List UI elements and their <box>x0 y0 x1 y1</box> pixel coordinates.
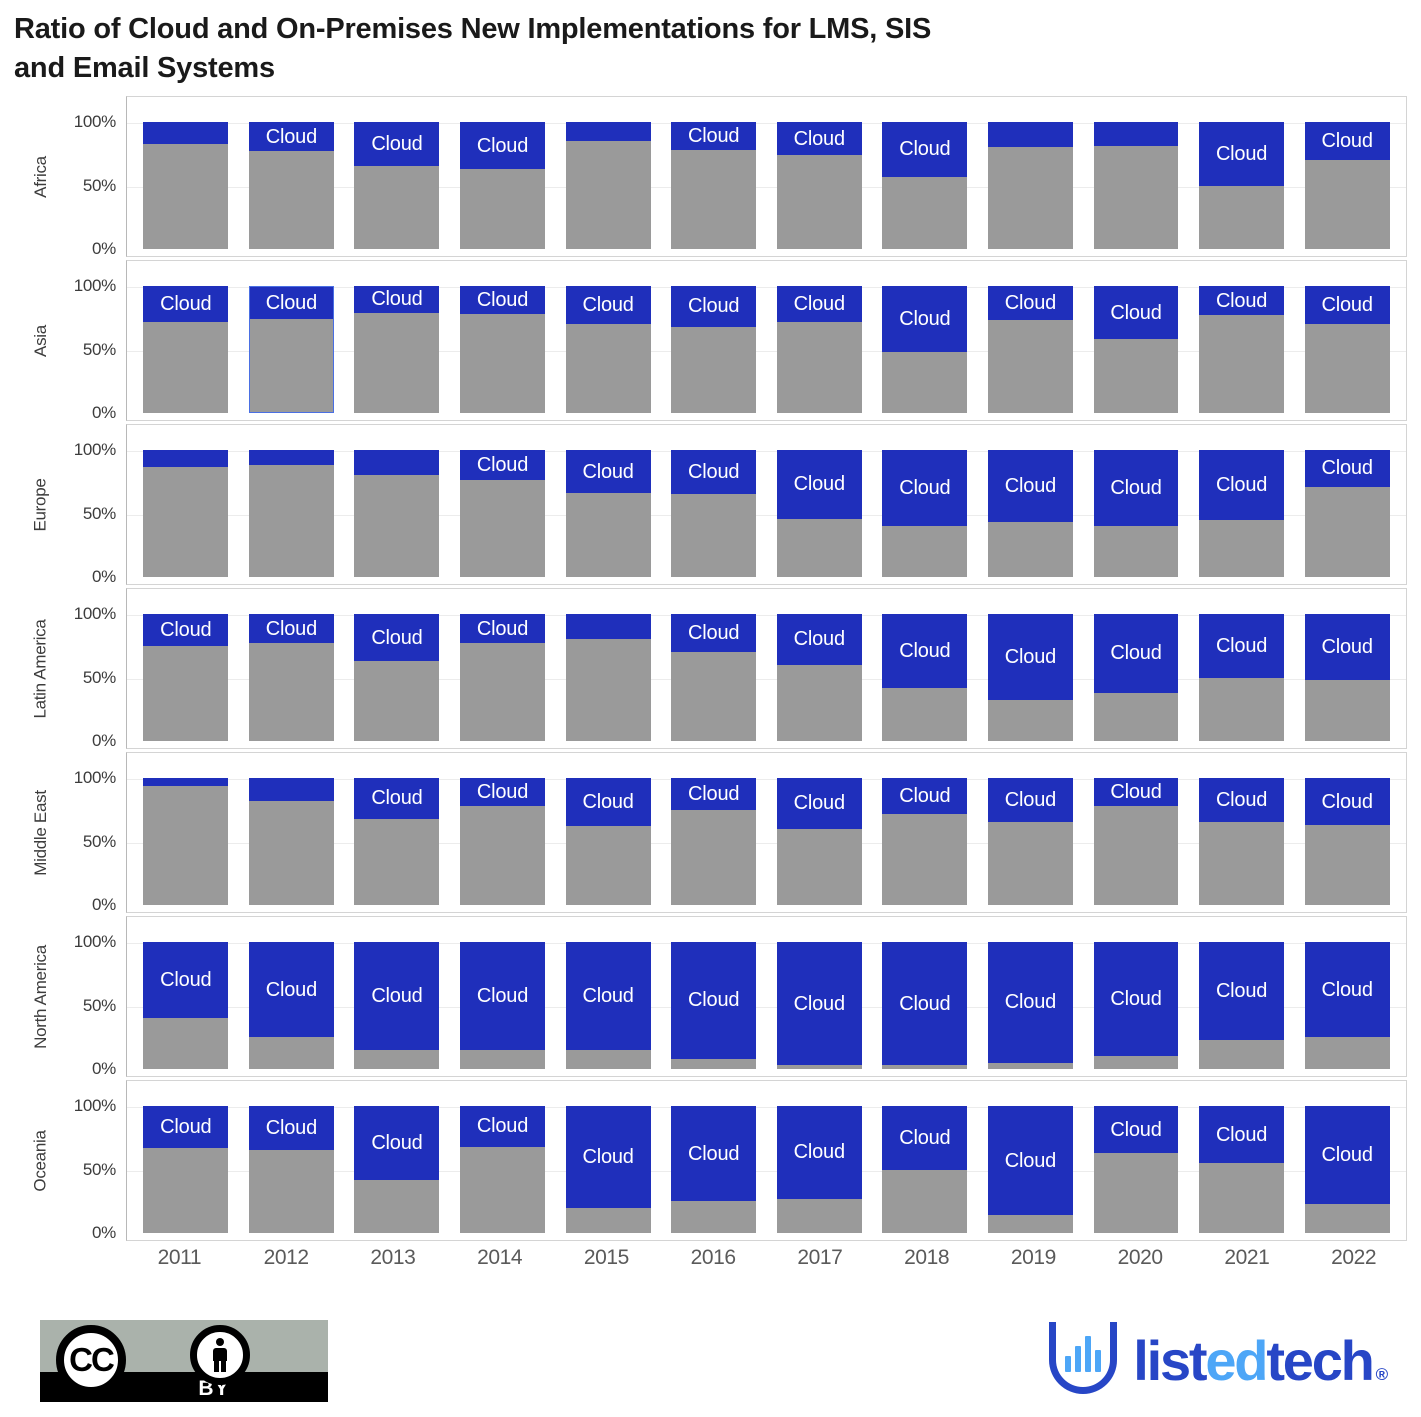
stacked-bar-north-america-2018[interactable]: Cloud <box>882 942 967 1069</box>
stacked-bar-latin-america-2018[interactable]: Cloud <box>882 614 967 741</box>
segment-cloud[interactable]: Cloud <box>249 122 334 151</box>
segment-on-premises[interactable] <box>460 643 545 741</box>
stacked-bar-oceania-2016[interactable]: Cloud <box>671 1106 756 1233</box>
stacked-bar-north-america-2021[interactable]: Cloud <box>1199 942 1284 1069</box>
stacked-bar-africa-2012[interactable]: Cloud <box>249 122 334 249</box>
segment-on-premises[interactable] <box>566 1050 651 1069</box>
segment-label-cloud: Cloud <box>899 478 950 498</box>
segment-cloud[interactable]: Cloud <box>460 1106 545 1147</box>
segment-cloud[interactable]: Cloud <box>566 778 651 826</box>
segment-on-premises[interactable] <box>354 313 439 413</box>
segment-cloud[interactable]: Cloud <box>777 1106 862 1199</box>
segment-cloud[interactable]: Cloud <box>143 286 228 322</box>
segment-label-cloud: Cloud <box>477 619 528 639</box>
bar-slot: Cloud <box>239 97 345 256</box>
segment-on-premises[interactable] <box>1305 1204 1390 1233</box>
segment-cloud[interactable]: Cloud <box>671 614 756 652</box>
segment-on-premises[interactable] <box>1305 160 1390 249</box>
segment-on-premises[interactable] <box>566 639 651 741</box>
segment-cloud[interactable]: Cloud <box>777 450 862 519</box>
stacked-bar-middle-east-2015[interactable]: Cloud <box>566 778 651 905</box>
segment-cloud[interactable]: Cloud <box>988 778 1073 822</box>
stacked-bar-asia-2012[interactable]: Cloud <box>249 286 334 413</box>
segment-on-premises[interactable] <box>143 467 228 577</box>
stacked-bar-middle-east-2017[interactable]: Cloud <box>777 778 862 905</box>
stacked-bar-europe-2017[interactable]: Cloud <box>777 450 862 577</box>
segment-cloud[interactable]: Cloud <box>460 778 545 806</box>
segment-label-cloud: Cloud <box>1005 1151 1056 1171</box>
segment-cloud[interactable]: Cloud <box>1094 1106 1179 1153</box>
segment-label-cloud: Cloud <box>1322 458 1373 478</box>
stacked-bar-europe-2021[interactable]: Cloud <box>1199 450 1284 577</box>
segment-on-premises[interactable] <box>143 1018 228 1069</box>
segment-cloud[interactable]: Cloud <box>671 450 756 494</box>
segment-label-cloud: Cloud <box>794 994 845 1014</box>
segment-on-premises[interactable] <box>1199 186 1284 250</box>
stacked-bar-north-america-2022[interactable]: Cloud <box>1305 942 1390 1069</box>
segment-on-premises[interactable] <box>249 1037 334 1069</box>
bar-slot: Cloud <box>555 753 661 912</box>
segment-on-premises[interactable] <box>1199 520 1284 577</box>
stacked-bar-oceania-2011[interactable]: Cloud <box>143 1106 228 1233</box>
segment-on-premises[interactable] <box>988 1063 1073 1069</box>
segment-on-premises[interactable] <box>882 1170 967 1234</box>
segment-on-premises[interactable] <box>777 1065 862 1069</box>
plot-box-north-america: CloudCloudCloudCloudCloudCloudCloudCloud… <box>126 916 1407 1077</box>
stacked-bar-europe-2020[interactable]: Cloud <box>1094 450 1179 577</box>
stacked-bar-asia-2013[interactable]: Cloud <box>354 286 439 413</box>
stacked-bar-latin-america-2013[interactable]: Cloud <box>354 614 439 741</box>
stacked-bar-latin-america-2021[interactable]: Cloud <box>1199 614 1284 741</box>
segment-on-premises[interactable] <box>1094 693 1179 741</box>
segment-cloud[interactable]: Cloud <box>143 450 228 467</box>
segment-cloud[interactable]: Cloud <box>1199 614 1284 678</box>
stacked-bar-latin-america-2015[interactable]: Cloud <box>566 614 651 741</box>
segment-on-premises[interactable] <box>566 141 651 249</box>
segment-label-cloud: Cloud <box>1005 647 1056 667</box>
segment-on-premises[interactable] <box>354 661 439 741</box>
segment-cloud[interactable]: Cloud <box>249 778 334 801</box>
y-tick-label: 100% <box>74 112 116 132</box>
segment-on-premises[interactable] <box>354 1180 439 1233</box>
segment-on-premises[interactable] <box>249 801 334 905</box>
stacked-bar-asia-2011[interactable]: Cloud <box>143 286 228 413</box>
stacked-bar-latin-america-2011[interactable]: Cloud <box>143 614 228 741</box>
bar-slot: Cloud <box>978 589 1084 748</box>
segment-on-premises[interactable] <box>1094 339 1179 413</box>
segment-cloud[interactable]: Cloud <box>777 942 862 1065</box>
stacked-bar-latin-america-2017[interactable]: Cloud <box>777 614 862 741</box>
stacked-bar-europe-2012[interactable]: Cloud <box>249 450 334 577</box>
segment-cloud[interactable]: Cloud <box>777 614 862 665</box>
segment-on-premises[interactable] <box>460 314 545 413</box>
stacked-bar-oceania-2022[interactable]: Cloud <box>1305 1106 1390 1233</box>
segment-on-premises[interactable] <box>671 494 756 577</box>
segment-cloud[interactable]: Cloud <box>882 450 967 526</box>
bar-slot: Cloud <box>661 425 767 584</box>
segment-cloud[interactable]: Cloud <box>460 614 545 643</box>
segment-on-premises[interactable] <box>882 814 967 905</box>
bar-slot: Cloud <box>1189 1081 1295 1240</box>
segment-cloud[interactable]: Cloud <box>1305 122 1390 160</box>
bar-slot: Cloud <box>344 917 450 1076</box>
segment-on-premises[interactable] <box>671 327 756 413</box>
segment-cloud[interactable]: Cloud <box>1199 286 1284 315</box>
segment-on-premises[interactable] <box>460 1147 545 1233</box>
stacked-bar-africa-2016[interactable]: Cloud <box>671 122 756 249</box>
stacked-bar-asia-2020[interactable]: Cloud <box>1094 286 1179 413</box>
segment-on-premises[interactable] <box>988 822 1073 905</box>
segment-cloud[interactable]: Cloud <box>460 942 545 1050</box>
segment-on-premises[interactable] <box>249 643 334 741</box>
segment-cloud[interactable]: Cloud <box>1305 614 1390 680</box>
stacked-bar-latin-america-2019[interactable]: Cloud <box>988 614 1073 741</box>
segment-label-cloud: Cloud <box>160 1117 211 1137</box>
segment-label-cloud: Cloud <box>899 786 950 806</box>
segment-cloud[interactable]: Cloud <box>354 942 439 1050</box>
segment-cloud[interactable]: Cloud <box>1305 942 1390 1037</box>
segment-on-premises[interactable] <box>249 151 334 249</box>
segment-cloud[interactable]: Cloud <box>671 778 756 810</box>
segment-cloud[interactable]: Cloud <box>1305 286 1390 324</box>
stacked-bar-oceania-2017[interactable]: Cloud <box>777 1106 862 1233</box>
segment-cloud[interactable]: Cloud <box>1199 450 1284 520</box>
segment-label-cloud: Cloud <box>688 990 739 1010</box>
segment-on-premises[interactable] <box>354 1050 439 1069</box>
segment-cloud[interactable]: Cloud <box>566 286 651 324</box>
stacked-bar-europe-2016[interactable]: Cloud <box>671 450 756 577</box>
row-label-africa: Africa <box>28 96 54 257</box>
stacked-bar-africa-2017[interactable]: Cloud <box>777 122 862 249</box>
stacked-bar-oceania-2020[interactable]: Cloud <box>1094 1106 1179 1233</box>
segment-cloud[interactable]: Cloud <box>354 614 439 661</box>
row-label-text: Oceania <box>31 1130 51 1191</box>
y-axis-north-america: 100%50%0% <box>54 916 126 1077</box>
segment-on-premises[interactable] <box>777 1199 862 1233</box>
stacked-bar-middle-east-2019[interactable]: Cloud <box>988 778 1073 905</box>
segment-on-premises[interactable] <box>1199 1040 1284 1069</box>
segment-on-premises[interactable] <box>354 166 439 249</box>
segment-on-premises[interactable] <box>1305 825 1390 905</box>
segment-on-premises[interactable] <box>1094 1056 1179 1069</box>
segment-on-premises[interactable] <box>249 1150 334 1233</box>
segment-cloud[interactable]: Cloud <box>143 614 228 646</box>
segment-cloud[interactable]: Cloud <box>1305 778 1390 825</box>
stacked-bar-asia-2019[interactable]: Cloud <box>988 286 1073 413</box>
segment-on-premises[interactable] <box>988 700 1073 741</box>
segment-on-premises[interactable] <box>460 169 545 249</box>
segment-on-premises[interactable] <box>882 688 967 741</box>
segment-cloud[interactable]: Cloud <box>1199 778 1284 822</box>
stacked-bar-asia-2014[interactable]: Cloud <box>460 286 545 413</box>
segment-cloud[interactable]: Cloud <box>1305 1106 1390 1204</box>
stacked-bar-latin-america-2016[interactable]: Cloud <box>671 614 756 741</box>
segment-on-premises[interactable] <box>460 806 545 905</box>
segment-label-cloud: Cloud <box>1322 792 1373 812</box>
segment-on-premises[interactable] <box>143 144 228 249</box>
segment-cloud[interactable]: Cloud <box>671 122 756 150</box>
segment-on-premises[interactable] <box>671 810 756 905</box>
segment-cloud[interactable]: Cloud <box>671 942 756 1059</box>
stacked-bar-north-america-2020[interactable]: Cloud <box>1094 942 1179 1069</box>
segment-on-premises[interactable] <box>143 1148 228 1233</box>
segment-on-premises[interactable] <box>354 475 439 577</box>
segment-on-premises[interactable] <box>988 147 1073 249</box>
stacked-bar-oceania-2021[interactable]: Cloud <box>1199 1106 1284 1233</box>
logo-text-ed: ed <box>1205 1333 1266 1389</box>
bar-slot: Cloud <box>239 1081 345 1240</box>
segment-on-premises[interactable] <box>460 1050 545 1069</box>
bar-slot: Cloud <box>555 917 661 1076</box>
segment-cloud[interactable]: Cloud <box>1199 122 1284 186</box>
segment-cloud[interactable]: Cloud <box>143 778 228 786</box>
segment-cloud[interactable]: Cloud <box>882 286 967 352</box>
stacked-bar-middle-east-2016[interactable]: Cloud <box>671 778 756 905</box>
segment-cloud[interactable]: Cloud <box>988 1106 1073 1215</box>
stacked-bar-europe-2015[interactable]: Cloud <box>566 450 651 577</box>
segment-cloud[interactable]: Cloud <box>1094 286 1179 339</box>
segment-on-premises[interactable] <box>1199 315 1284 413</box>
stacked-bar-north-america-2016[interactable]: Cloud <box>671 942 756 1069</box>
segment-on-premises[interactable] <box>249 465 334 577</box>
stacked-bar-africa-2015[interactable]: Cloud <box>566 122 651 249</box>
stacked-bar-africa-2019[interactable]: Cloud <box>988 122 1073 249</box>
stacked-bar-europe-2011[interactable]: Cloud <box>143 450 228 577</box>
segment-on-premises[interactable] <box>566 324 651 413</box>
segment-on-premises[interactable] <box>777 829 862 905</box>
segment-cloud[interactable]: Cloud <box>143 942 228 1018</box>
segment-cloud[interactable]: Cloud <box>1094 614 1179 693</box>
segment-cloud[interactable]: Cloud <box>988 450 1073 522</box>
segment-cloud[interactable]: Cloud <box>1094 942 1179 1056</box>
stacked-bar-africa-2013[interactable]: Cloud <box>354 122 439 249</box>
segment-on-premises[interactable] <box>777 322 862 413</box>
segment-on-premises[interactable] <box>1094 1153 1179 1233</box>
stacked-bar-asia-2018[interactable]: Cloud <box>882 286 967 413</box>
segment-on-premises[interactable] <box>988 320 1073 413</box>
stacked-bar-middle-east-2022[interactable]: Cloud <box>1305 778 1390 905</box>
segment-on-premises[interactable] <box>143 646 228 741</box>
segment-cloud[interactable]: Cloud <box>354 122 439 166</box>
segment-cloud[interactable]: Cloud <box>1305 450 1390 487</box>
x-axis: 2011201220132014201520162017201820192020… <box>126 1246 1407 1286</box>
segment-on-premises[interactable] <box>988 522 1073 577</box>
segment-cloud[interactable]: Cloud <box>1094 778 1179 806</box>
stacked-bar-asia-2016[interactable]: Cloud <box>671 286 756 413</box>
segment-on-premises[interactable] <box>777 665 862 741</box>
segment-cloud[interactable]: Cloud <box>882 942 967 1065</box>
segment-on-premises[interactable] <box>777 519 862 577</box>
segment-on-premises[interactable] <box>671 1201 756 1233</box>
stacked-bar-asia-2022[interactable]: Cloud <box>1305 286 1390 413</box>
segment-cloud[interactable]: Cloud <box>1199 1106 1284 1163</box>
stacked-bar-africa-2018[interactable]: Cloud <box>882 122 967 249</box>
stacked-bar-africa-2014[interactable]: Cloud <box>460 122 545 249</box>
bar-slot: Cloud <box>133 1081 239 1240</box>
segment-cloud[interactable]: Cloud <box>249 942 334 1037</box>
segment-cloud[interactable]: Cloud <box>1199 942 1284 1040</box>
segment-on-premises[interactable] <box>143 786 228 905</box>
listedtech-shield-icon <box>1049 1322 1117 1400</box>
listedtech-logo: listedtech® <box>1049 1318 1386 1404</box>
stacked-bar-oceania-2014[interactable]: Cloud <box>460 1106 545 1233</box>
stacked-bar-middle-east-2013[interactable]: Cloud <box>354 778 439 905</box>
stacked-bar-oceania-2015[interactable]: Cloud <box>566 1106 651 1233</box>
stacked-bar-oceania-2018[interactable]: Cloud <box>882 1106 967 1233</box>
x-tick-label: 2014 <box>446 1246 553 1286</box>
segment-cloud[interactable]: Cloud <box>460 122 545 169</box>
row-label-text: Latin America <box>31 619 51 718</box>
segment-on-premises[interactable] <box>882 352 967 413</box>
stacked-bar-europe-2014[interactable]: Cloud <box>460 450 545 577</box>
stacked-bar-north-america-2017[interactable]: Cloud <box>777 942 862 1069</box>
segment-label-cloud: Cloud <box>266 1118 317 1138</box>
segment-on-premises[interactable] <box>143 322 228 413</box>
segment-on-premises[interactable] <box>566 493 651 577</box>
stacked-bar-middle-east-2011[interactable]: Cloud <box>143 778 228 905</box>
segment-cloud[interactable]: Cloud <box>566 942 651 1050</box>
segment-on-premises[interactable] <box>1094 526 1179 577</box>
segment-on-premises[interactable] <box>1094 146 1179 249</box>
segment-cloud[interactable]: Cloud <box>566 1106 651 1208</box>
stacked-bar-middle-east-2018[interactable]: Cloud <box>882 778 967 905</box>
row-label-text: Africa <box>31 156 51 198</box>
stacked-bar-latin-america-2014[interactable]: Cloud <box>460 614 545 741</box>
segment-on-premises[interactable] <box>460 480 545 577</box>
segment-on-premises[interactable] <box>249 319 334 413</box>
segment-on-premises[interactable] <box>1305 487 1390 577</box>
segment-cloud[interactable]: Cloud <box>1094 450 1179 526</box>
segment-cloud[interactable]: Cloud <box>143 1106 228 1148</box>
stacked-bar-north-america-2014[interactable]: Cloud <box>460 942 545 1069</box>
segment-on-premises[interactable] <box>777 155 862 249</box>
segment-on-premises[interactable] <box>671 652 756 741</box>
bar-group: CloudCloudCloudCloudCloudCloudCloudCloud… <box>127 1081 1406 1240</box>
stacked-bar-north-america-2019[interactable]: Cloud <box>988 942 1073 1069</box>
segment-cloud[interactable]: Cloud <box>882 122 967 177</box>
segment-on-premises[interactable] <box>1199 822 1284 905</box>
segment-cloud[interactable]: Cloud <box>354 778 439 819</box>
bar-slot: Cloud <box>661 589 767 748</box>
segment-label-cloud: Cloud <box>266 127 317 147</box>
stacked-bar-latin-america-2020[interactable]: Cloud <box>1094 614 1179 741</box>
stacked-bar-middle-east-2021[interactable]: Cloud <box>1199 778 1284 905</box>
bar-slot: Cloud <box>766 261 872 420</box>
bar-slot: Cloud <box>1189 917 1295 1076</box>
segment-on-premises[interactable] <box>1094 806 1179 905</box>
stacked-bar-north-america-2012[interactable]: Cloud <box>249 942 334 1069</box>
segment-cloud[interactable]: Cloud <box>671 1106 756 1201</box>
segment-on-premises[interactable] <box>988 1215 1073 1233</box>
segment-cloud[interactable]: Cloud <box>460 450 545 480</box>
segment-on-premises[interactable] <box>882 177 967 249</box>
segment-cloud[interactable]: Cloud <box>354 450 439 475</box>
segment-cloud[interactable]: Cloud <box>460 286 545 314</box>
y-tick-label: 50% <box>83 1160 116 1180</box>
segment-label-cloud: Cloud <box>477 455 528 475</box>
stacked-bar-oceania-2012[interactable]: Cloud <box>249 1106 334 1233</box>
stacked-bar-latin-america-2012[interactable]: Cloud <box>249 614 334 741</box>
segment-cloud[interactable]: Cloud <box>354 1106 439 1180</box>
stacked-bar-north-america-2015[interactable]: Cloud <box>566 942 651 1069</box>
segment-on-premises[interactable] <box>1199 1163 1284 1233</box>
segment-on-premises[interactable] <box>882 526 967 577</box>
segment-cloud[interactable]: Cloud <box>882 1106 967 1170</box>
stacked-bar-oceania-2019[interactable]: Cloud <box>988 1106 1073 1233</box>
segment-on-premises[interactable] <box>354 819 439 905</box>
stacked-bar-oceania-2013[interactable]: Cloud <box>354 1106 439 1233</box>
segment-cloud[interactable]: Cloud <box>777 286 862 322</box>
stacked-bar-africa-2021[interactable]: Cloud <box>1199 122 1284 249</box>
segment-on-premises[interactable] <box>566 826 651 905</box>
stacked-bar-europe-2018[interactable]: Cloud <box>882 450 967 577</box>
plot-box-africa: CloudCloudCloudCloudCloudCloudCloudCloud… <box>126 96 1407 257</box>
stacked-bar-north-america-2011[interactable]: Cloud <box>143 942 228 1069</box>
stacked-bar-africa-2011[interactable]: Cloud <box>143 122 228 249</box>
stacked-bar-middle-east-2014[interactable]: Cloud <box>460 778 545 905</box>
stacked-bar-north-america-2013[interactable]: Cloud <box>354 942 439 1069</box>
segment-cloud[interactable]: Cloud <box>988 614 1073 700</box>
segment-cloud[interactable]: Cloud <box>882 614 967 688</box>
segment-cloud[interactable]: Cloud <box>566 450 651 493</box>
stacked-bar-latin-america-2022[interactable]: Cloud <box>1305 614 1390 741</box>
segment-cloud[interactable]: Cloud <box>566 614 651 639</box>
segment-on-premises[interactable] <box>882 1065 967 1069</box>
y-tick-label: 100% <box>74 276 116 296</box>
segment-on-premises[interactable] <box>671 150 756 249</box>
segment-cloud[interactable]: Cloud <box>354 286 439 313</box>
stacked-bar-africa-2020[interactable]: Cloud <box>1094 122 1179 249</box>
segment-on-premises[interactable] <box>1305 324 1390 413</box>
segment-on-premises[interactable] <box>1305 1037 1390 1069</box>
segment-cloud[interactable]: Cloud <box>988 122 1073 147</box>
segment-cloud[interactable]: Cloud <box>988 942 1073 1063</box>
segment-cloud[interactable]: Cloud <box>1094 122 1179 146</box>
bar-slot: Cloud <box>344 425 450 584</box>
segment-cloud[interactable]: Cloud <box>988 286 1073 320</box>
stacked-bar-europe-2013[interactable]: Cloud <box>354 450 439 577</box>
stacked-bar-asia-2017[interactable]: Cloud <box>777 286 862 413</box>
segment-on-premises[interactable] <box>1199 678 1284 742</box>
segment-cloud[interactable]: Cloud <box>566 122 651 141</box>
segment-cloud[interactable]: Cloud <box>249 614 334 643</box>
segment-cloud[interactable]: Cloud <box>143 122 228 144</box>
segment-label-cloud: Cloud <box>899 309 950 329</box>
segment-cloud[interactable]: Cloud <box>671 286 756 327</box>
stacked-bar-middle-east-2012[interactable]: Cloud <box>249 778 334 905</box>
stacked-bar-europe-2022[interactable]: Cloud <box>1305 450 1390 577</box>
stacked-bar-asia-2021[interactable]: Cloud <box>1199 286 1284 413</box>
stacked-bar-europe-2019[interactable]: Cloud <box>988 450 1073 577</box>
segment-on-premises[interactable] <box>566 1208 651 1233</box>
segment-cloud[interactable]: Cloud <box>777 122 862 155</box>
stacked-bar-middle-east-2020[interactable]: Cloud <box>1094 778 1179 905</box>
segment-cloud[interactable]: Cloud <box>249 450 334 465</box>
segment-on-premises[interactable] <box>1305 680 1390 741</box>
x-tick-label: 2021 <box>1194 1246 1301 1286</box>
segment-cloud[interactable]: Cloud <box>777 778 862 829</box>
cc-attribution-person-icon <box>190 1325 250 1385</box>
segment-cloud[interactable]: Cloud <box>249 286 334 319</box>
stacked-bar-africa-2022[interactable]: Cloud <box>1305 122 1390 249</box>
stacked-bar-asia-2015[interactable]: Cloud <box>566 286 651 413</box>
segment-cloud[interactable]: Cloud <box>882 778 967 814</box>
bar-slot: Cloud <box>1189 261 1295 420</box>
segment-on-premises[interactable] <box>671 1059 756 1069</box>
segment-cloud[interactable]: Cloud <box>249 1106 334 1150</box>
y-tick-label: 100% <box>74 768 116 788</box>
y-tick-label: 50% <box>83 996 116 1016</box>
